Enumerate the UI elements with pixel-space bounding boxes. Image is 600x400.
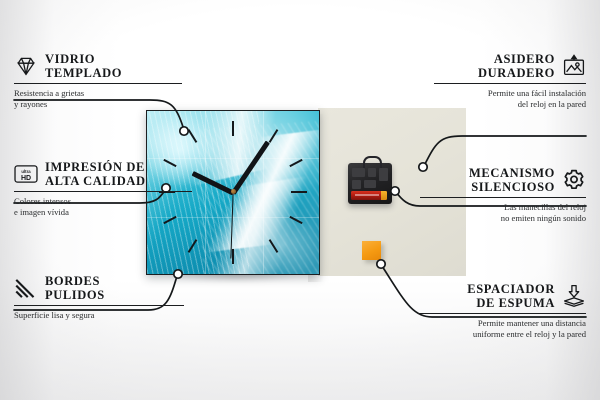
feature-desc-line1: Las manecillas del reloj (420, 202, 586, 213)
feature-desc-line2: no emiten ningún sonido (420, 213, 586, 224)
connector-endpoint-vidrio (180, 127, 188, 135)
connector-endpoint-mecanismo (391, 187, 399, 195)
feature-title-line2: ALTA CALIDAD (45, 174, 146, 188)
feature-divider (14, 305, 184, 306)
svg-text:ultra: ultra (21, 169, 31, 174)
feature-desc-line1: Superficie lisa y segura (14, 310, 184, 321)
feature-desc-line1: Permite una fácil instalación (434, 88, 586, 99)
feature-divider (420, 197, 586, 198)
hanging-frame-icon (562, 54, 586, 78)
diagonal-stripes-icon (14, 276, 38, 300)
feature-title-line2: SILENCIOSO (469, 180, 555, 194)
feature-desc-line1: Colores intensos (14, 196, 192, 207)
feature-divider (14, 83, 182, 84)
feature-mecanismo-silencioso: MECANISMO SILENCIOSO Las manecillas del … (420, 166, 586, 224)
connector-endpoint-espaciador (377, 260, 385, 268)
feature-divider (434, 83, 586, 84)
feature-desc-line2: del reloj en la pared (434, 99, 586, 110)
feature-divider (418, 313, 586, 314)
ultra-hd-icon: ultra HD (14, 162, 38, 186)
feature-desc-line2: y rayones (14, 99, 182, 110)
feature-title-line1: BORDES (45, 274, 105, 288)
feature-desc-line1: Resistencia a grietas (14, 88, 182, 99)
arrow-onto-layers-icon (562, 284, 586, 308)
feature-desc-line2: e imagen vívida (14, 207, 192, 218)
feature-vidrio-templado: VIDRIO TEMPLADO Resistencia a grietas y … (14, 52, 182, 110)
feature-bordes-pulidos: BORDES PULIDOS Superficie lisa y segura (14, 274, 184, 321)
feature-title-line1: VIDRIO (45, 52, 122, 66)
feature-espaciador-de-espuma: ESPACIADOR DE ESPUMA Permite mantener un… (418, 282, 586, 340)
feature-title-line1: IMPRESIÓN DE (45, 160, 146, 174)
infographic-canvas: VIDRIO TEMPLADO Resistencia a grietas y … (0, 0, 600, 400)
gear-icon (562, 168, 586, 192)
diamond-icon (14, 54, 38, 78)
feature-title-line2: PULIDOS (45, 288, 105, 302)
feature-title-line1: ASIDERO (478, 52, 555, 66)
svg-text:HD: HD (21, 175, 31, 182)
feature-desc-line2: uniforme entre el reloj y la pared (418, 329, 586, 340)
feature-impresion-alta-calidad: ultra HD IMPRESIÓN DE ALTA CALIDAD Color… (14, 160, 192, 218)
feature-divider (14, 191, 192, 192)
feature-title-line1: ESPACIADOR (467, 282, 555, 296)
feature-title-line2: TEMPLADO (45, 66, 122, 80)
feature-title-line2: DE ESPUMA (467, 296, 555, 310)
feature-desc-line1: Permite mantener una distancia (418, 318, 586, 329)
feature-title-line1: MECANISMO (469, 166, 555, 180)
feature-title-line2: DURADERO (478, 66, 555, 80)
feature-asidero-duradero: ASIDERO DURADERO Permite una fácil insta… (434, 52, 586, 110)
